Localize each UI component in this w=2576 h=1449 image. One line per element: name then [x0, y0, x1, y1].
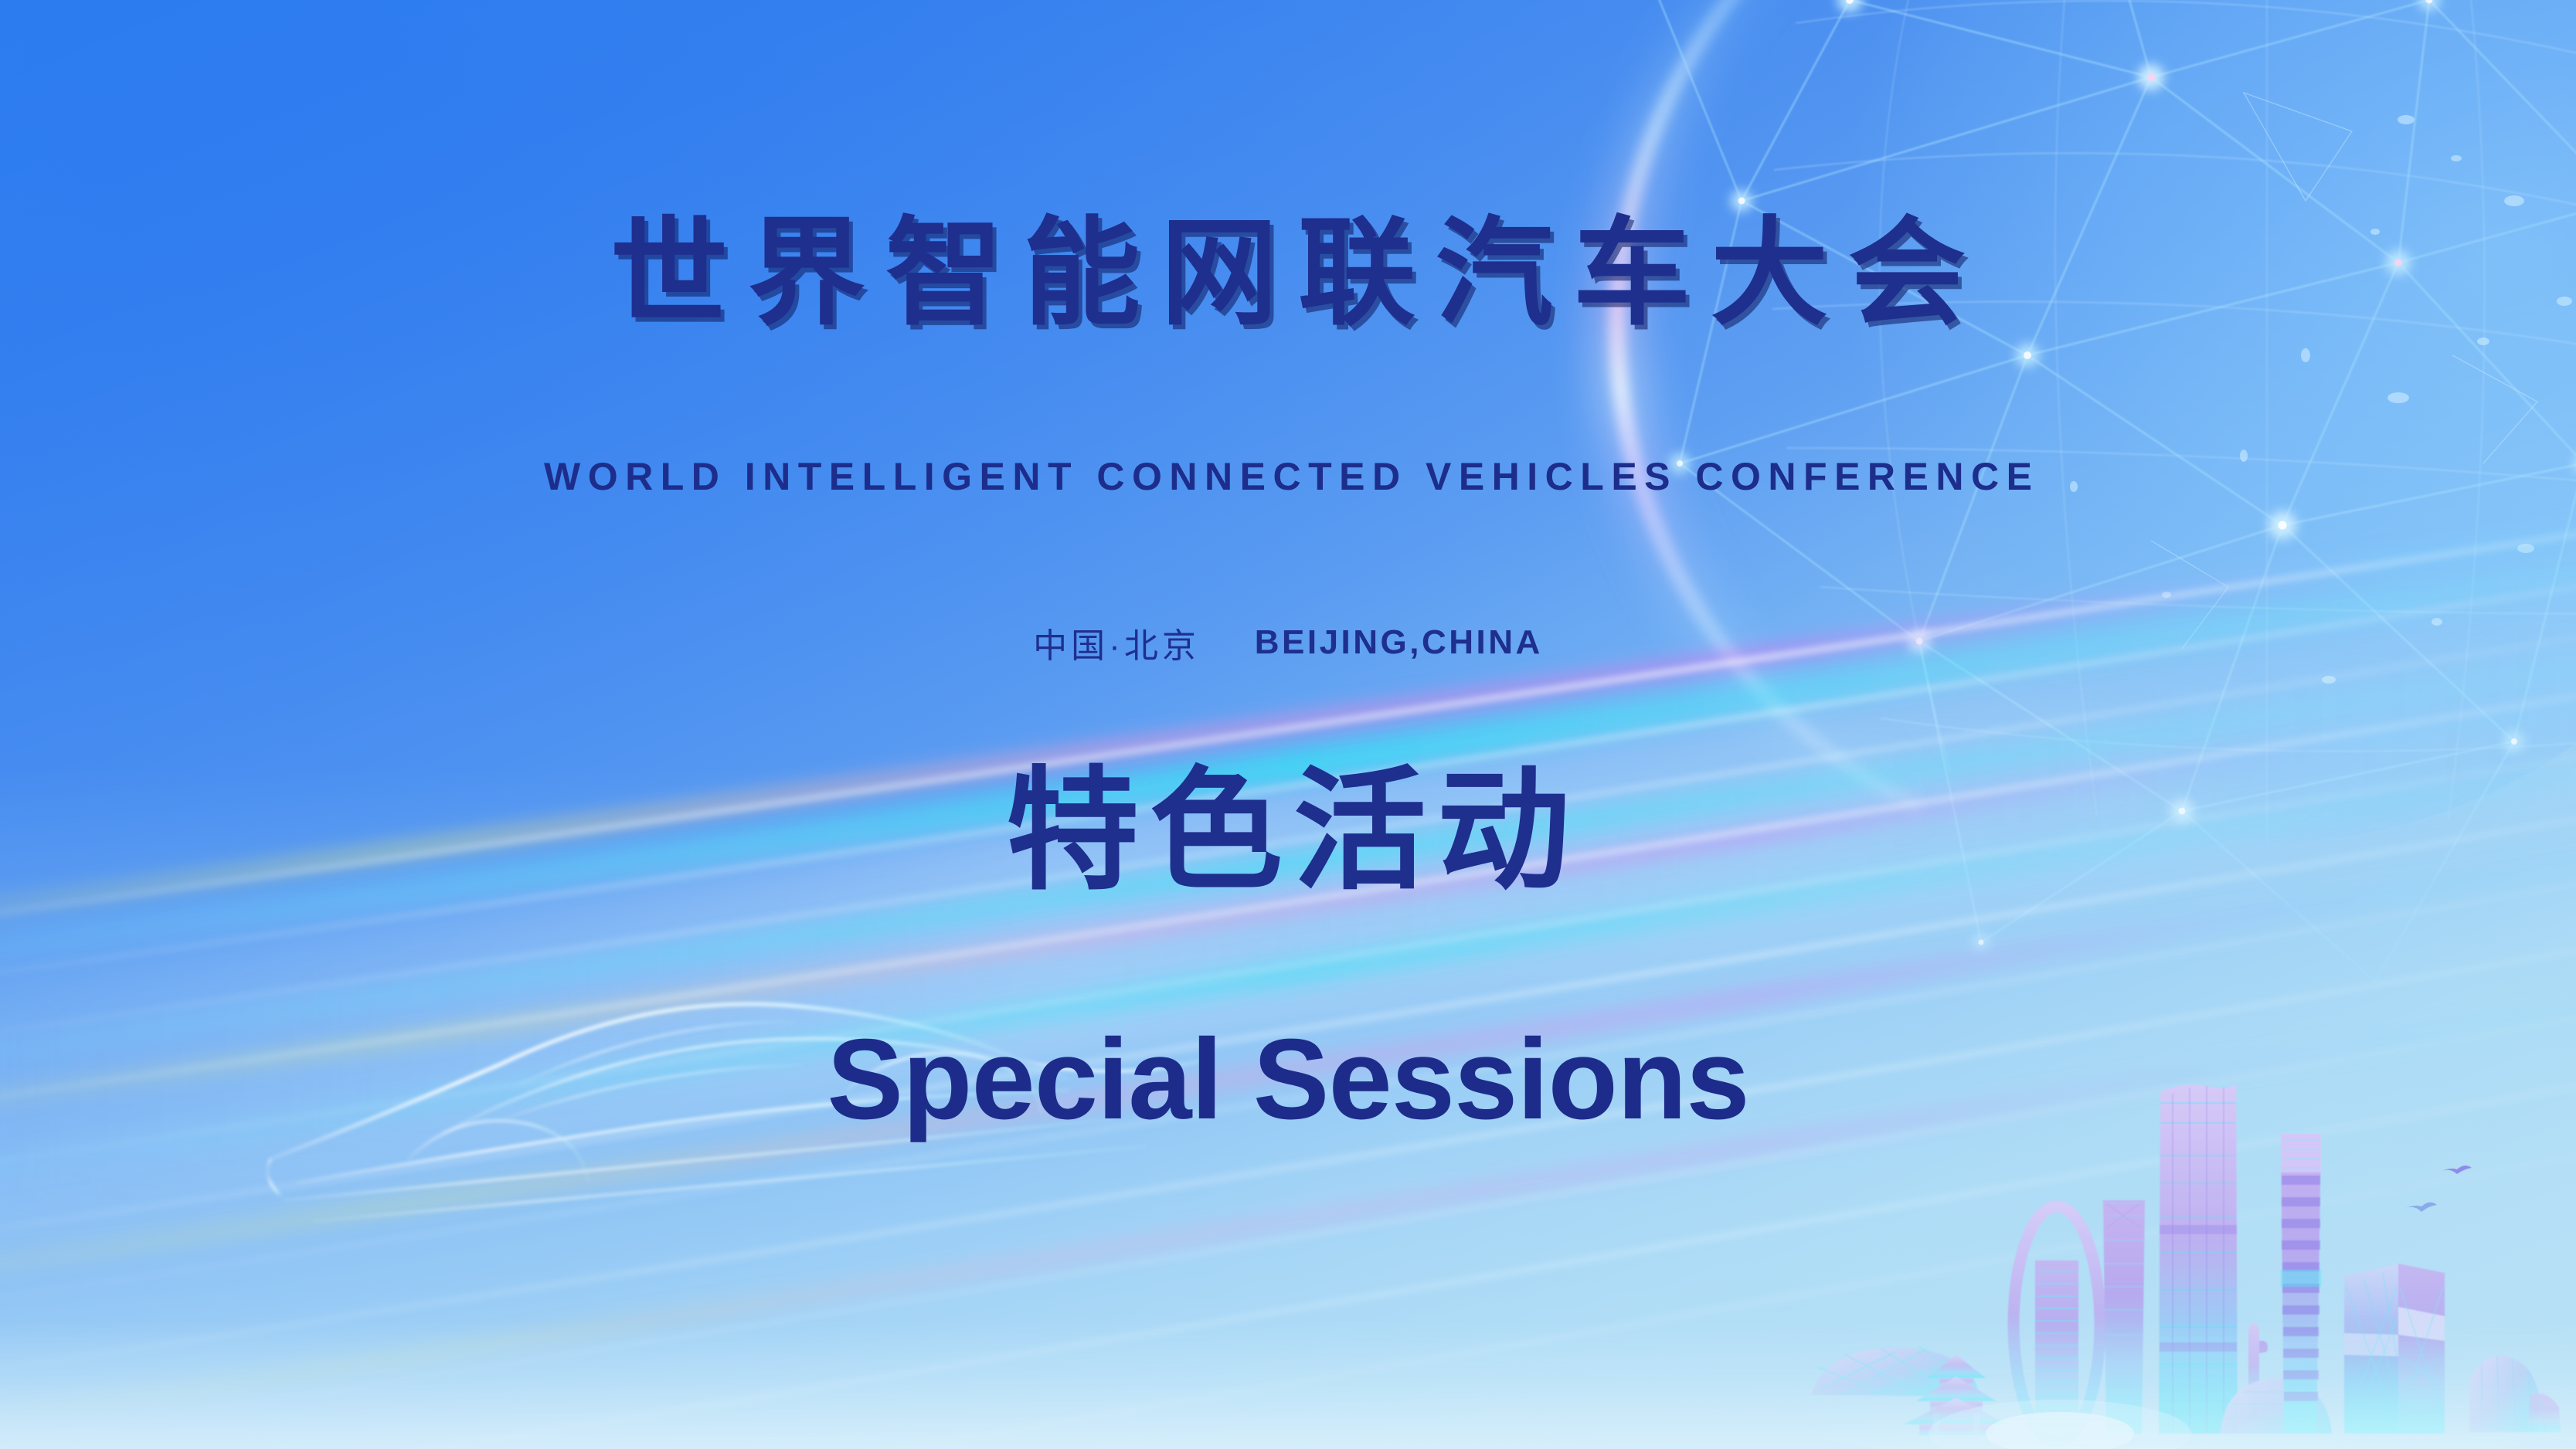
locale-city-en: BEIJING,CHINA — [1255, 623, 1543, 661]
conference-title-en: WORLD INTELLIGENT CONNECTED VEHICLES CON… — [0, 457, 2576, 496]
poster-text-content: 世界智能网联汽车大会 WORLD INTELLIGENT CONNECTED V… — [0, 0, 2576, 1449]
conference-title-cn: 世界智能网联汽车大会 — [0, 215, 2576, 332]
locale-city-cn: 中国·北京 — [1033, 627, 1200, 665]
locale-line: 中国·北京 BEIJING,CHINA — [0, 618, 2576, 667]
conference-poster: 世界智能网联汽车大会 WORLD INTELLIGENT CONNECTED V… — [0, 0, 2576, 1449]
headline-cn: 特色活动 — [0, 765, 2576, 898]
headline-en: Special Sessions — [0, 1023, 2576, 1137]
